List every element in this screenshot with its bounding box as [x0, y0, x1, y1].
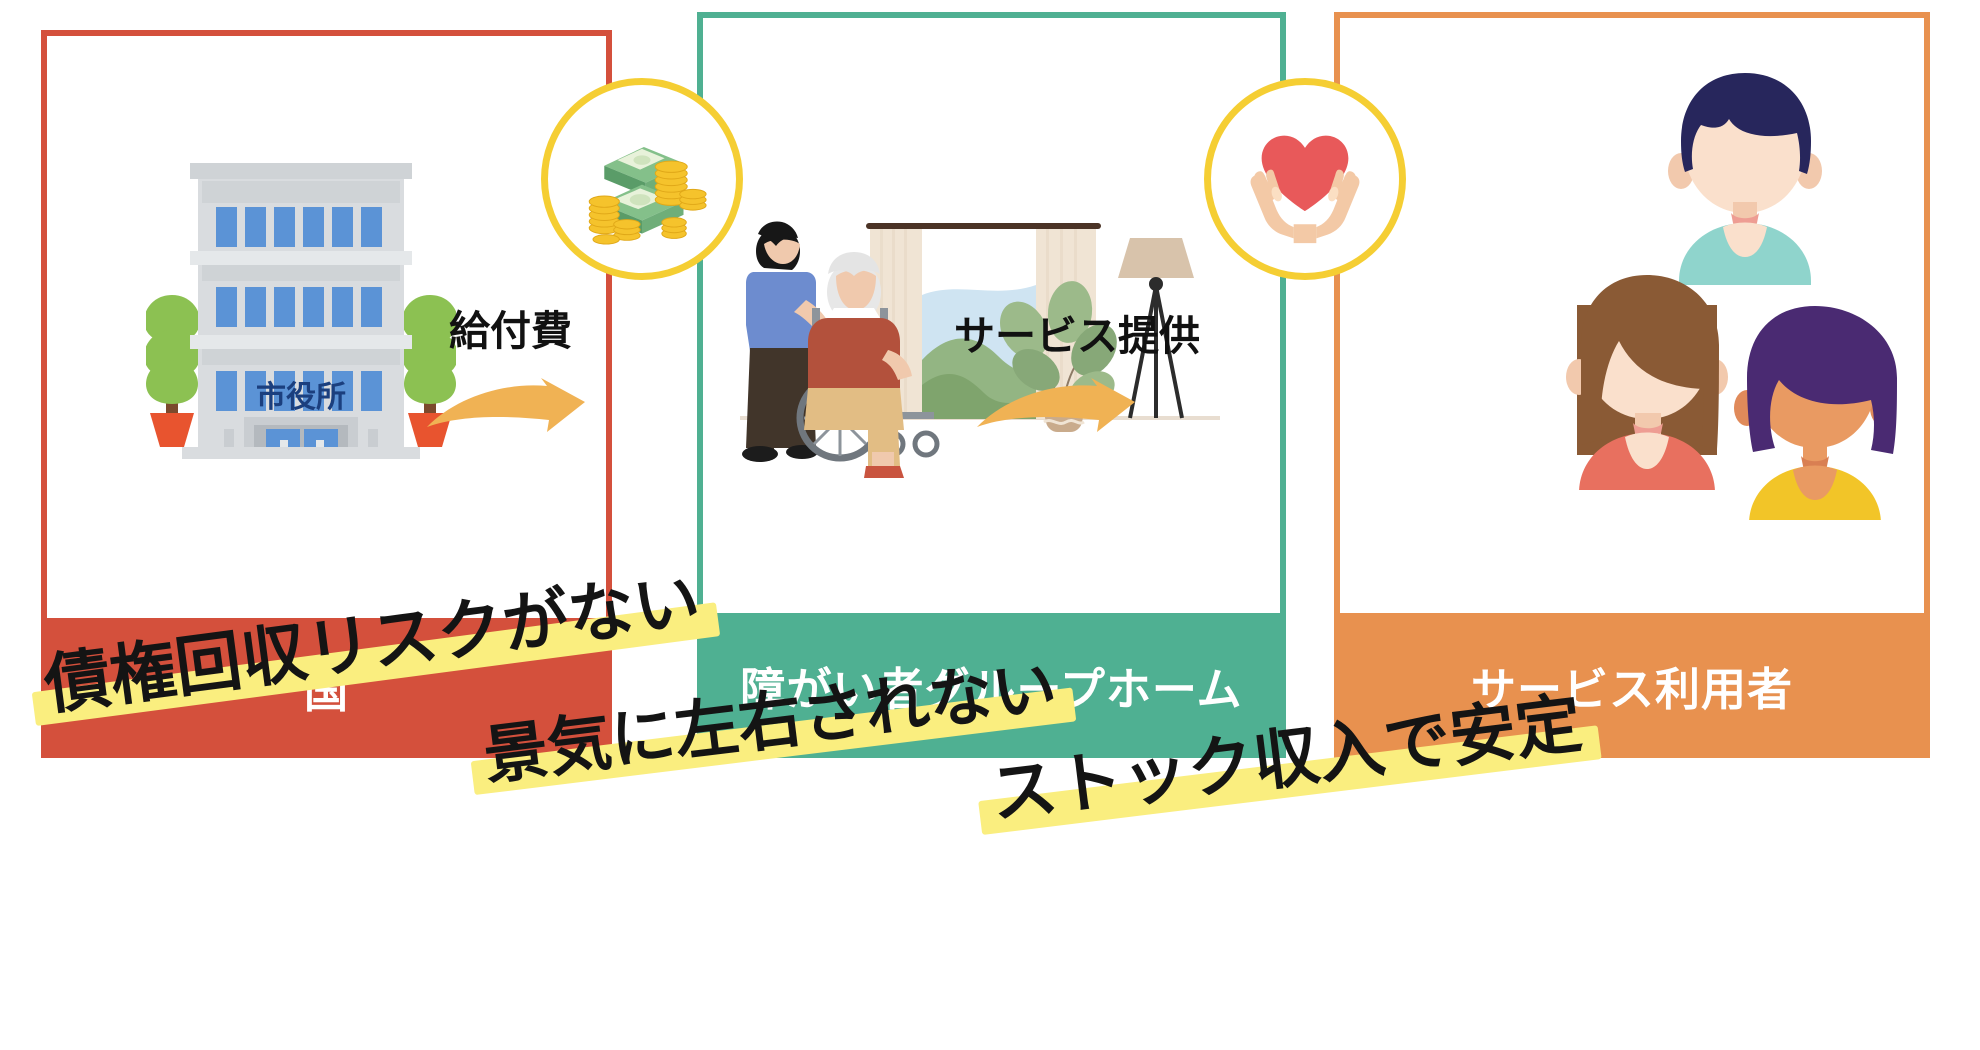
arrow-service-icon [975, 378, 1155, 433]
flow-label-benefit: 給付費 [449, 297, 572, 357]
arrow-benefit-icon [425, 378, 605, 433]
flow-label-service: サービス提供 [954, 302, 1200, 362]
heart-in-hands-icon [1239, 113, 1371, 245]
city-hall-icon: 市役所 [146, 145, 456, 465]
avatar-person-1 [1645, 65, 1845, 285]
money-badge [541, 78, 743, 280]
building-sign-text: 市役所 [256, 380, 346, 414]
avatar-icon [1645, 65, 1845, 285]
city-hall-illustration: 市役所 [146, 145, 456, 465]
money-icon [576, 113, 708, 245]
avatar-icon [1715, 300, 1915, 520]
care-badge [1204, 78, 1406, 280]
avatar-person-3 [1715, 300, 1915, 520]
